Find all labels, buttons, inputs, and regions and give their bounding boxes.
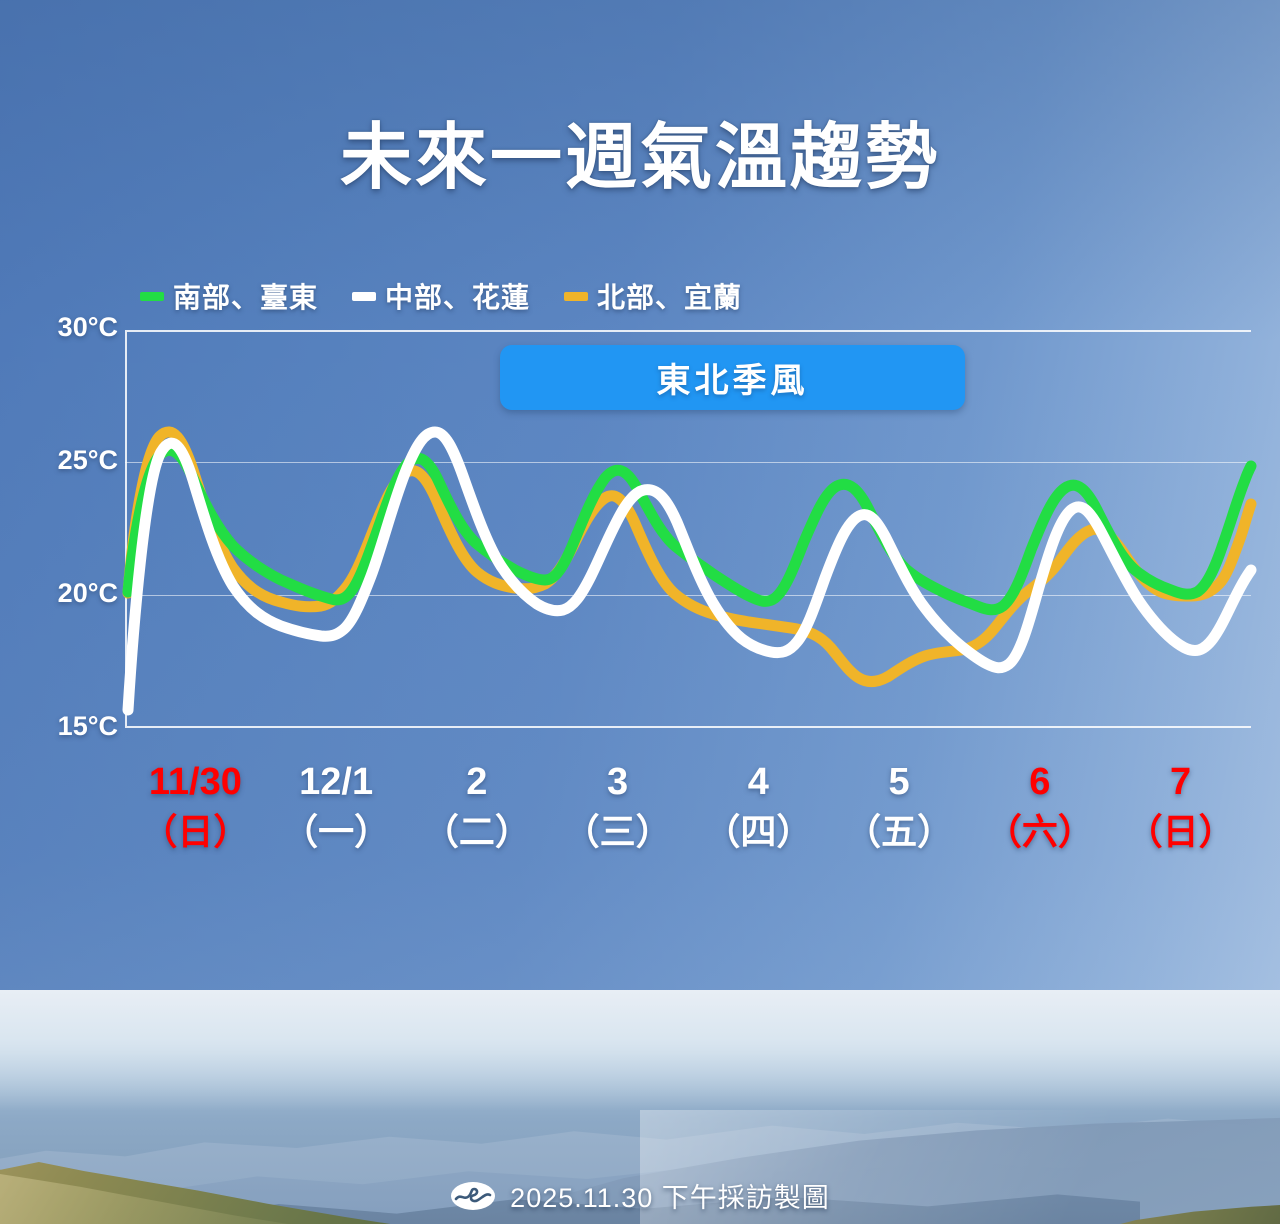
x-axis-weekday-2: （二） xyxy=(407,806,548,858)
legend-swatch-central xyxy=(352,292,376,301)
y-tick-25: 25°C xyxy=(58,445,118,476)
infographic-canvas: 未來一週氣溫趨勢 南部、臺東 中部、花蓮 北部、宜蘭 30°C 25°C 20°… xyxy=(0,0,1280,1224)
legend-swatch-north xyxy=(564,292,588,301)
x-axis-day-4: 4 （四） xyxy=(688,758,829,868)
footer: 2025.11.30 下午採訪製圖 xyxy=(0,1176,1280,1215)
photo-haze xyxy=(0,990,1280,1110)
x-axis-day-1: 12/1 （一） xyxy=(266,758,407,868)
page-title: 未來一週氣溫趨勢 xyxy=(0,98,1280,203)
x-axis-day-2: 2 （二） xyxy=(407,758,548,868)
x-axis-weekday-7: （日） xyxy=(1110,806,1251,858)
x-axis-weekday-1: （一） xyxy=(266,806,407,858)
x-axis-date-5: 5 xyxy=(829,758,970,806)
y-tick-20: 20°C xyxy=(58,578,118,609)
x-axis-day-3: 3 （三） xyxy=(547,758,688,868)
x-axis-date-3: 3 xyxy=(547,758,688,806)
monsoon-banner: 東北季風 xyxy=(500,345,965,410)
x-axis-weekday-5: （五） xyxy=(829,806,970,858)
legend-item-south: 南部、臺東 xyxy=(140,276,318,316)
y-tick-15: 15°C xyxy=(58,711,118,742)
x-axis-date-2: 2 xyxy=(407,758,548,806)
series-path-central xyxy=(128,432,1251,710)
y-axis: 30°C 25°C 20°C 15°C xyxy=(0,300,118,740)
x-axis-day-0: 11/30 （日） xyxy=(125,758,266,868)
x-axis-weekday-4: （四） xyxy=(688,806,829,858)
x-axis-day-7: 7 （日） xyxy=(1110,758,1251,868)
y-tick-30: 30°C xyxy=(58,312,118,343)
legend-label-south: 南部、臺東 xyxy=(173,276,318,316)
legend-swatch-south xyxy=(140,292,164,301)
legend-item-central: 中部、花蓮 xyxy=(352,276,530,316)
x-axis-weekday-6: （六） xyxy=(970,806,1111,858)
x-axis-weekday-3: （三） xyxy=(547,806,688,858)
x-axis-date-6: 6 xyxy=(970,758,1111,806)
x-axis-date-4: 4 xyxy=(688,758,829,806)
legend-label-central: 中部、花蓮 xyxy=(385,276,530,316)
x-axis-date-0: 11/30 xyxy=(125,758,266,806)
legend-label-north: 北部、宜蘭 xyxy=(597,276,742,316)
chart-legend: 南部、臺東 中部、花蓮 北部、宜蘭 xyxy=(140,276,742,316)
x-axis-day-6: 6 （六） xyxy=(970,758,1111,868)
x-axis: 11/30 （日） 12/1 （一） 2 （二） 3 （三） 4 （四） 5 （… xyxy=(125,758,1251,868)
monsoon-banner-label: 東北季風 xyxy=(657,353,809,402)
footer-text: 2025.11.30 下午採訪製圖 xyxy=(510,1176,830,1215)
legend-item-north: 北部、宜蘭 xyxy=(564,276,742,316)
cwa-wave-logo-icon xyxy=(450,1181,496,1211)
x-axis-day-5: 5 （五） xyxy=(829,758,970,868)
x-axis-date-7: 7 xyxy=(1110,758,1251,806)
x-axis-date-1: 12/1 xyxy=(266,758,407,806)
x-axis-weekday-0: （日） xyxy=(125,806,266,858)
